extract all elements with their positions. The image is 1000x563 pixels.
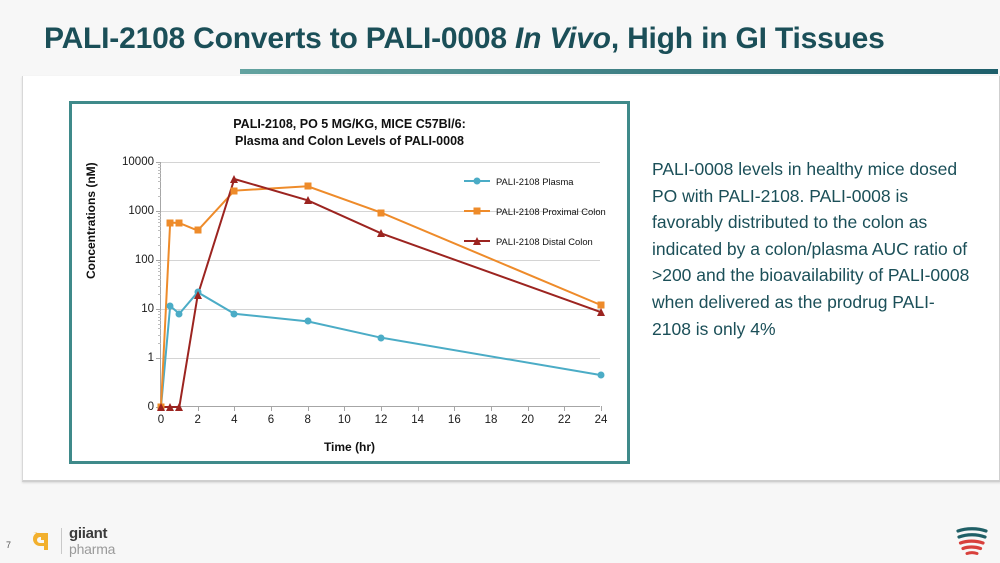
legend-item[interactable]: PALI-2108 Proximal Colon bbox=[464, 196, 632, 226]
data-point-marker bbox=[597, 308, 605, 316]
data-point-marker bbox=[230, 175, 238, 183]
data-point-marker bbox=[194, 227, 201, 234]
data-point-marker bbox=[167, 219, 174, 226]
logo-text: giiant pharma bbox=[69, 526, 115, 556]
series-line bbox=[161, 292, 601, 407]
x-tick-label: 8 bbox=[304, 414, 310, 426]
data-point-marker bbox=[377, 229, 385, 237]
x-tick-label: 24 bbox=[595, 414, 608, 426]
x-tick-label: 14 bbox=[411, 414, 424, 426]
y-tick-label: 10 bbox=[141, 303, 154, 315]
logo-primary-text: giiant bbox=[69, 526, 115, 541]
y-axis-title: Concentrations (nM) bbox=[84, 162, 98, 279]
data-point-marker bbox=[176, 219, 183, 226]
legend-label: PALI-2108 Plasma bbox=[496, 176, 573, 187]
x-tick-label: 6 bbox=[268, 414, 274, 426]
corner-shield-icon bbox=[952, 527, 992, 557]
x-tick-label: 22 bbox=[558, 414, 571, 426]
data-point-marker bbox=[598, 372, 605, 379]
legend-symbol-icon bbox=[464, 235, 490, 247]
data-point-marker bbox=[304, 196, 312, 204]
x-tick-label: 18 bbox=[485, 414, 498, 426]
data-point-marker bbox=[176, 310, 183, 317]
chart-title-line2: Plasma and Colon Levels of PALI-0008 bbox=[72, 133, 627, 150]
data-point-marker bbox=[166, 403, 174, 411]
data-point-marker bbox=[157, 403, 165, 411]
description-text: PALI-0008 levels in healthy mice dosed P… bbox=[652, 156, 970, 342]
data-point-marker bbox=[175, 403, 183, 411]
data-point-marker bbox=[378, 209, 385, 216]
y-tick-label: 1000 bbox=[128, 205, 154, 217]
data-point-marker bbox=[167, 303, 174, 310]
x-tick-label: 0 bbox=[158, 414, 164, 426]
data-point-marker bbox=[304, 183, 311, 190]
y-tick-label: 10000 bbox=[122, 156, 154, 168]
x-tick-label: 12 bbox=[375, 414, 388, 426]
giiant-logo-icon bbox=[30, 529, 54, 553]
data-point-marker bbox=[194, 291, 202, 299]
x-tick-label: 20 bbox=[521, 414, 534, 426]
x-tick-label: 4 bbox=[231, 414, 237, 426]
legend-item[interactable]: PALI-2108 Plasma bbox=[464, 166, 632, 196]
title-accent-bar bbox=[240, 69, 998, 74]
logo-divider bbox=[61, 528, 62, 554]
legend-symbol-icon bbox=[464, 205, 490, 217]
legend-symbol-icon bbox=[464, 175, 490, 187]
slide: PALI-2108 Converts to PALI-0008 In Vivo,… bbox=[0, 0, 1000, 563]
x-tick-label: 2 bbox=[194, 414, 200, 426]
brand-logo: giiant pharma bbox=[30, 526, 115, 556]
x-tick-mark bbox=[601, 406, 602, 411]
logo-secondary-text: pharma bbox=[69, 542, 115, 556]
x-axis-title: Time (hr) bbox=[72, 440, 627, 454]
x-tick-label: 10 bbox=[338, 414, 351, 426]
page-number: 7 bbox=[6, 540, 11, 550]
y-tick-label: 0 bbox=[148, 401, 154, 413]
chart-container: PALI-2108, PO 5 MG/KG, MICE C57Bl/6: Pla… bbox=[69, 101, 630, 464]
legend-label: PALI-2108 Proximal Colon bbox=[496, 206, 606, 217]
data-point-marker bbox=[231, 310, 238, 317]
chart-title-line1: PALI-2108, PO 5 MG/KG, MICE C57Bl/6: bbox=[72, 116, 627, 133]
chart-legend: PALI-2108 PlasmaPALI-2108 Proximal Colon… bbox=[464, 166, 632, 256]
legend-label: PALI-2108 Distal Colon bbox=[496, 236, 593, 247]
data-point-marker bbox=[304, 318, 311, 325]
chart-title: PALI-2108, PO 5 MG/KG, MICE C57Bl/6: Pla… bbox=[72, 116, 627, 150]
page-title-part1: PALI-2108 Converts to PALI-0008 bbox=[44, 22, 515, 55]
page-title-italic: In Vivo bbox=[515, 22, 611, 55]
page-title-part2: , High in GI Tissues bbox=[611, 22, 885, 55]
y-tick-label: 100 bbox=[135, 254, 154, 266]
data-point-marker bbox=[378, 334, 385, 341]
data-point-marker bbox=[231, 187, 238, 194]
legend-item[interactable]: PALI-2108 Distal Colon bbox=[464, 226, 632, 256]
y-tick-label: 1 bbox=[148, 352, 154, 364]
page-title: PALI-2108 Converts to PALI-0008 In Vivo,… bbox=[44, 22, 994, 56]
x-tick-label: 16 bbox=[448, 414, 461, 426]
